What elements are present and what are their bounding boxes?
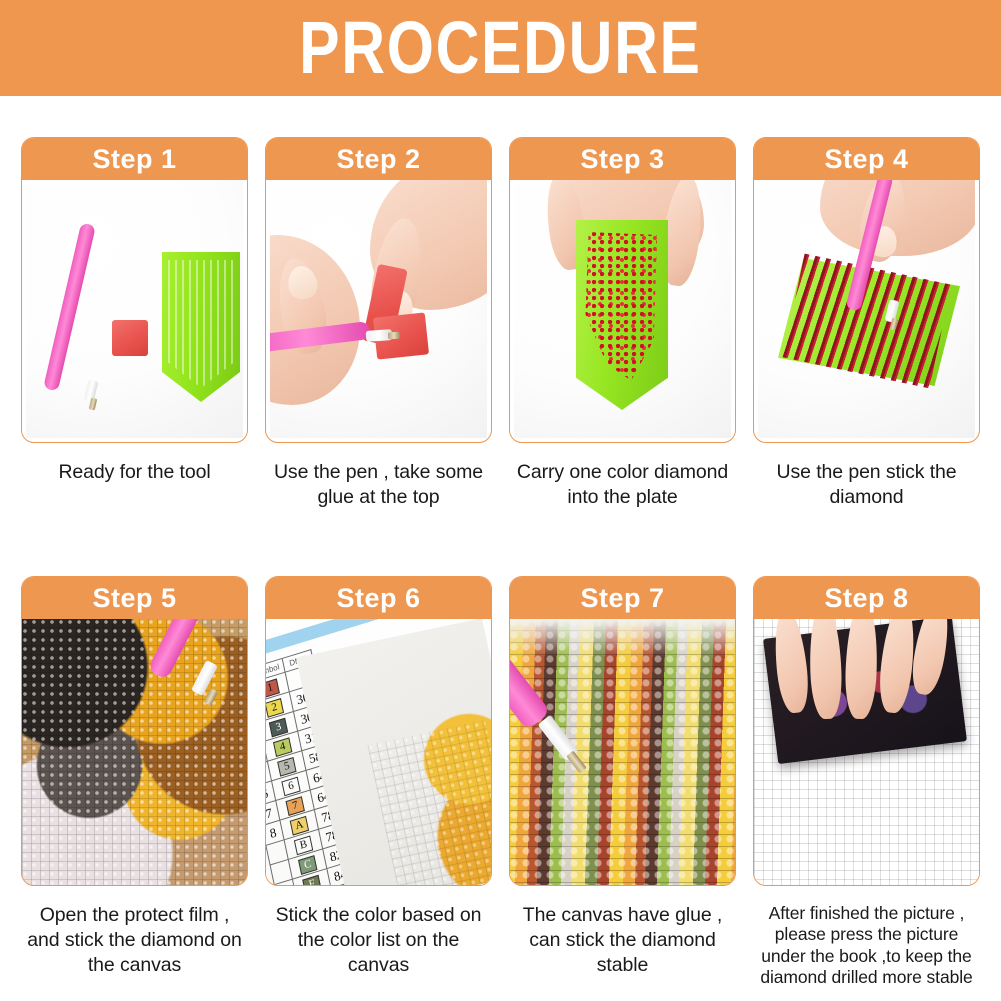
step-card-6: Step 6 No Symbol DMC 1 [265, 576, 492, 988]
green-tray-grooves [168, 260, 234, 388]
step-card-8: Step 8 After finished the picture , pl [753, 576, 980, 988]
step-card-1: Step 1 Ready for the tool [21, 137, 248, 510]
step-card-5: Step 5 Open the protect film , and stick… [21, 576, 248, 988]
tools-photo [26, 180, 243, 438]
step-7-image [510, 619, 735, 885]
color-chart-photo: No Symbol DMC 1 1 2 2 [266, 619, 491, 885]
step-6-caption: Stick the color based on the color list … [265, 903, 492, 978]
step-card-4: Step 4 Use the pen stick th [753, 137, 980, 510]
step-1-image [26, 180, 243, 438]
step-1-caption: Ready for the tool [21, 460, 248, 485]
step-3-image [514, 180, 731, 438]
step-8-image [754, 619, 979, 885]
pick-drill-photo [758, 180, 975, 438]
step-2-frame: Step 2 [265, 137, 492, 443]
step-2-image [270, 180, 487, 438]
step-4-caption: Use the pen stick the diamond [753, 460, 980, 510]
step-2-caption: Use the pen , take some glue at the top [265, 460, 492, 510]
step-1-frame: Step 1 [21, 137, 248, 443]
pen-metal-tip-icon [388, 332, 400, 340]
step-6-frame: Step 6 No Symbol DMC 1 [265, 576, 492, 886]
step-8-caption: After finished the picture , please pres… [753, 903, 980, 988]
step-4-image [758, 180, 975, 438]
canvas-blank-area [510, 619, 735, 657]
steps-row-1: Step 1 Ready for the tool St [21, 137, 980, 510]
plate-with-drills-photo [514, 180, 731, 438]
step-6-title: Step 6 [266, 577, 491, 619]
glue-wax-icon [112, 320, 148, 356]
step-card-3: Step 3 Carry one color diamond into the … [509, 137, 736, 510]
step-4-title: Step 4 [754, 138, 979, 180]
press-book-photo [754, 619, 979, 885]
page-title: PROCEDURE [299, 11, 701, 85]
step-8-title: Step 8 [754, 577, 979, 619]
step-3-frame: Step 3 [509, 137, 736, 443]
drill-round-texture [510, 619, 735, 885]
page-header-banner: PROCEDURE [0, 0, 1001, 96]
step-5-caption: Open the protect film , and stick the di… [21, 903, 248, 978]
step-6-image: No Symbol DMC 1 1 2 2 [266, 619, 491, 885]
step-3-caption: Carry one color diamond into the plate [509, 460, 736, 510]
sunflower-canvas-photo [22, 619, 247, 885]
step-card-7: Step 7 The canvas have glue , can stick … [509, 576, 736, 988]
steps-row-2: Step 5 Open the protect film , and stick… [21, 576, 980, 988]
step-1-title: Step 1 [22, 138, 247, 180]
step-3-title: Step 3 [510, 138, 735, 180]
step-4-frame: Step 4 [753, 137, 980, 443]
glue-dip-photo [270, 180, 487, 438]
step-card-2: Step 2 [265, 137, 492, 510]
step-5-title: Step 5 [22, 577, 247, 619]
step-8-frame: Step 8 [753, 576, 980, 886]
step-2-title: Step 2 [266, 138, 491, 180]
symbol-swatch: F [302, 875, 321, 885]
drill-grid-texture [22, 619, 247, 885]
step-5-frame: Step 5 [21, 576, 248, 886]
round-drills-photo [510, 619, 735, 885]
step-5-image [22, 619, 247, 885]
step-7-frame: Step 7 [509, 576, 736, 886]
step-7-title: Step 7 [510, 577, 735, 619]
step-7-caption: The canvas have glue , can stick the dia… [509, 903, 736, 978]
